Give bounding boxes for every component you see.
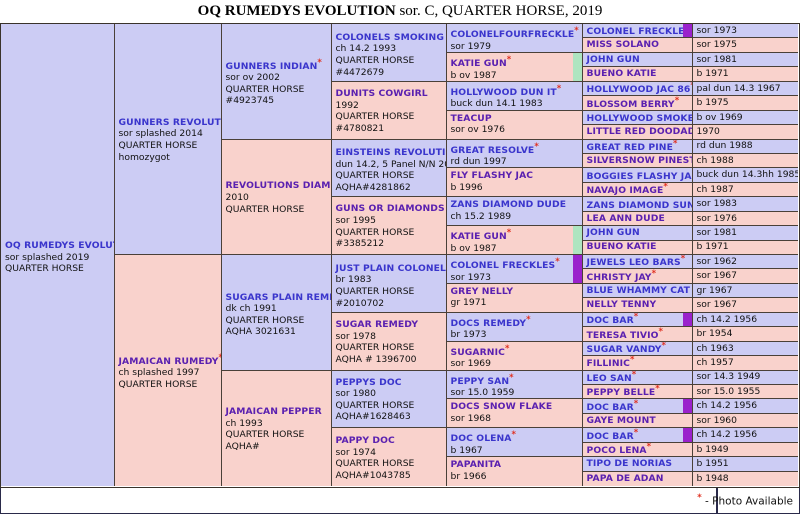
horse-detail: QUARTER HORSE xyxy=(336,170,443,182)
horse-name: BUENO KATIE xyxy=(587,241,657,253)
horse-detail: AQHA # 1396700 xyxy=(336,354,443,366)
horse-name: DOC BAR* xyxy=(587,313,639,327)
horse-detail: sor 1981 xyxy=(697,54,738,66)
horse-name: PEPPY SAN* xyxy=(451,373,579,388)
horse-detail: ch splashed 1997 xyxy=(119,367,218,379)
horse-detail: sor 1973 xyxy=(451,272,579,284)
horse-detail: b 1967 xyxy=(451,445,579,457)
gen5-cell[interactable]: DOCS SNOW FLAKEsor 1968 xyxy=(447,399,583,428)
horse-name: OQ RUMEDYS EVOLUTION* xyxy=(5,237,111,252)
photo-star-icon: * xyxy=(697,493,701,503)
gen4-cell[interactable]: JUST PLAIN COLONEL*br 1983QUARTER HORSE#… xyxy=(332,255,447,313)
gen5-cell[interactable]: KATIE GUN*b ov 1987 xyxy=(447,226,583,255)
horse-detail: QUARTER HORSE xyxy=(336,111,443,123)
gen6-date-cell[interactable]: sor 1976 xyxy=(693,212,799,226)
gen6-name-cell[interactable]: LEO SAN* xyxy=(583,371,693,385)
gen5-cell[interactable]: ZANS DIAMOND DUDEch 15.2 1989 xyxy=(447,197,583,226)
gen4-cell[interactable]: COLONELS SMOKING GUN*ch 14.2 1993QUARTER… xyxy=(332,24,447,82)
photo-star-icon: * xyxy=(663,183,668,192)
horse-name: COLONELS SMOKING GUN* xyxy=(336,29,443,44)
horse-detail: AQHA#1043785 xyxy=(336,470,443,482)
horse-detail: QUARTER HORSE xyxy=(226,204,328,216)
horse-name: DOCS REMEDY* xyxy=(451,315,579,330)
horse-detail: #4780821 xyxy=(336,123,443,135)
gen6-date-cell[interactable]: ch 1987 xyxy=(693,183,799,197)
gen6-date-cell[interactable]: sor 1960 xyxy=(693,414,799,428)
horse-detail: QUARTER HORSE xyxy=(226,84,328,96)
accent-bar-purple xyxy=(573,255,582,283)
horse-detail: homozygot xyxy=(119,152,218,164)
gen5-cell[interactable]: TEACUPsor ov 1976 xyxy=(447,111,583,140)
gen6-date-cell[interactable]: b 1971 xyxy=(693,67,799,81)
horse-detail: sor ov 2002 xyxy=(226,72,328,84)
horse-name: DOC BAR* xyxy=(587,428,639,442)
gen4-cell[interactable]: EINSTEINS REVOLUTION*dun 14.2, 5 Panel N… xyxy=(332,140,447,198)
gen6-name-cell[interactable]: DOC BAR* xyxy=(583,313,693,327)
horse-detail: dk ch 1991 xyxy=(226,303,328,315)
horse-detail: sor ov 1976 xyxy=(451,124,579,136)
horse-name: SUGARS PLAIN REMEDY* xyxy=(226,289,328,304)
gen6-date-cell[interactable]: sor 1975 xyxy=(693,38,799,52)
gen6-name-cell[interactable]: BUENO KATIE xyxy=(583,241,693,255)
photo-star-icon: * xyxy=(681,255,686,264)
horse-detail: sor 15.0 1959 xyxy=(451,387,579,399)
horse-name: TERESA TIVIO* xyxy=(587,327,664,341)
gen4-cell[interactable]: PEPPYS DOCsor 1980QUARTER HORSEAQHA#1628… xyxy=(332,371,447,429)
horse-name: JOHN GUN xyxy=(587,227,640,239)
horse-detail: ch 15.2 1989 xyxy=(451,211,579,223)
title-subject: OQ RUMEDYS EVOLUTION xyxy=(198,3,396,19)
horse-detail: QUARTER HORSE xyxy=(336,400,443,412)
accent-bar-purple xyxy=(683,428,692,441)
horse-name: PEPPY BELLE* xyxy=(587,385,660,399)
photo-star-icon: * xyxy=(647,443,652,452)
gen6-name-cell[interactable]: LEA ANN DUDE xyxy=(583,212,693,226)
horse-name: FILLINIC* xyxy=(587,356,635,370)
horse-detail: sor 1980 xyxy=(336,388,443,400)
horse-name: HOLLYWOOD SMOKE* xyxy=(587,111,693,125)
photo-star-icon: * xyxy=(655,385,660,394)
horse-name: ZANS DIAMOND SUN* xyxy=(587,197,693,211)
horse-detail: br 1983 xyxy=(336,274,443,286)
horse-detail: b ov 1987 xyxy=(451,70,579,82)
horse-detail: 1992 xyxy=(336,100,443,112)
horse-name: BLOSSOM BERRY* xyxy=(587,96,680,110)
photo-star-icon: * xyxy=(555,257,560,267)
photo-star-icon: * xyxy=(630,356,635,365)
photo-star-icon: * xyxy=(652,269,657,278)
horse-detail: sor 1975 xyxy=(697,39,738,51)
gen6-name-cell[interactable]: BLOSSOM BERRY* xyxy=(583,96,693,110)
horse-detail: gr 1967 xyxy=(697,285,733,297)
horse-name: COLONEL FRECKLES* xyxy=(451,257,579,272)
gen6-date-cell[interactable]: ch 1963 xyxy=(693,342,799,356)
gen6-name-cell[interactable]: MISS SOLANO xyxy=(583,38,693,52)
horse-name: BUENO KATIE xyxy=(587,68,657,80)
accent-bar-green xyxy=(573,53,582,81)
gen6-name-cell[interactable]: CHRISTY JAY* xyxy=(583,269,693,283)
gen6-name-cell[interactable]: HOLLYWOOD SMOKE* xyxy=(583,111,693,125)
gen3-cell[interactable]: REVOLUTIONS DIAMOND2010QUARTER HORSE xyxy=(222,140,332,256)
horse-name: POCO LENA* xyxy=(587,443,652,457)
horse-detail: b 1951 xyxy=(697,458,729,470)
gen6-date-cell[interactable]: ch 14.2 1956 xyxy=(693,313,799,327)
horse-detail: QUARTER HORSE xyxy=(336,227,443,239)
gen6-date-cell[interactable]: 1970 xyxy=(693,125,799,139)
gen6-name-cell[interactable]: BUENO KATIE xyxy=(583,67,693,81)
horse-detail: sor 1968 xyxy=(451,413,579,425)
horse-name: BOGGIES FLASHY JAC* xyxy=(587,168,693,182)
gen6-date-cell[interactable]: sor 14.3 1949 xyxy=(693,371,799,385)
horse-name: PAPANITA xyxy=(451,459,579,471)
title-details: sor. C, QUARTER HORSE, 2019 xyxy=(396,3,603,19)
horse-detail: b ov 1969 xyxy=(697,112,743,124)
horse-detail: pal dun 14.3 1967 xyxy=(697,83,781,95)
horse-detail: #2010702 xyxy=(336,298,443,310)
photo-star-icon: * xyxy=(526,315,531,325)
horse-detail: buck dun 14.1 1983 xyxy=(451,98,579,110)
horse-detail: b 1971 xyxy=(697,241,729,253)
gen6-date-cell[interactable]: sor 1967 xyxy=(693,298,799,312)
horse-detail: AQHA# xyxy=(226,441,328,453)
horse-name: JAMAICAN PEPPER xyxy=(226,406,328,418)
gen3-cell[interactable]: GUNNERS INDIAN*sor ov 2002QUARTER HORSE#… xyxy=(222,24,332,140)
horse-detail: QUARTER HORSE xyxy=(119,140,218,152)
horse-detail: ch 14.2 1956 xyxy=(697,400,758,412)
horse-detail: sor splashed 2019 xyxy=(5,252,111,264)
horse-name: DOC OLENA* xyxy=(451,430,579,445)
photo-star-icon: * xyxy=(507,55,512,65)
gen6-date-cell[interactable]: b 1951 xyxy=(693,457,799,471)
horse-name: ZANS DIAMOND DUDE xyxy=(451,199,579,211)
gen6-name-cell[interactable]: GAYE MOUNT xyxy=(583,414,693,428)
gen6-name-cell[interactable]: HOLLYWOOD JAC 86* xyxy=(583,82,693,96)
horse-name: JOHN GUN xyxy=(587,54,640,66)
horse-name: CHRISTY JAY* xyxy=(587,269,657,283)
gen5-cell[interactable]: COLONEL FRECKLES*sor 1973 xyxy=(447,255,583,284)
horse-detail: QUARTER HORSE xyxy=(336,55,443,67)
horse-name: TIPO DE NORIAS xyxy=(587,458,673,470)
gen4-cell[interactable]: SUGAR REMEDYsor 1978QUARTER HORSEAQHA # … xyxy=(332,313,447,371)
gen6-name-cell[interactable]: TIPO DE NORIAS xyxy=(583,457,693,471)
horse-detail: AQHA#4281862 xyxy=(336,182,443,194)
horse-name: LEO SAN* xyxy=(587,371,637,385)
photo-star-icon: * xyxy=(574,26,579,36)
horse-detail: sor 1983 xyxy=(697,198,738,210)
gen6-date-cell[interactable]: gr 1967 xyxy=(693,284,799,298)
horse-name: GREAT RESOLVE* xyxy=(451,142,579,157)
gen4-cell[interactable]: DUNITS COWGIRL1992QUARTER HORSE#4780821 xyxy=(332,82,447,140)
horse-detail: ch 1987 xyxy=(697,184,734,196)
gen2-cell[interactable]: JAMAICAN RUMEDY*ch splashed 1997QUARTER … xyxy=(115,255,222,486)
horse-name: GAYE MOUNT xyxy=(587,415,656,427)
gen6-date-cell[interactable]: sor 15.0 1955 xyxy=(693,385,799,399)
gen5-cell[interactable]: FLY FLASHY JACb 1996 xyxy=(447,168,583,197)
horse-detail: sor 15.0 1955 xyxy=(697,386,761,398)
gen5-cell[interactable]: KATIE GUN*b ov 1987 xyxy=(447,53,583,82)
gen6-date-cell[interactable]: b ov 1969 xyxy=(693,111,799,125)
horse-name: COLONEL FRECKLES* xyxy=(587,24,693,38)
horse-name: SUGAR VANDY* xyxy=(587,342,667,356)
horse-detail: b 1975 xyxy=(697,97,729,109)
horse-name: HOLLYWOOD JAC 86* xyxy=(587,82,693,96)
gen6-date-cell[interactable]: b 1948 xyxy=(693,472,799,486)
horse-detail: b 1971 xyxy=(697,68,729,80)
horse-name: SILVERSNOW PINESTEP xyxy=(587,155,693,167)
photo-star-icon: * xyxy=(675,96,680,105)
gen6-date-cell[interactable]: rd dun 1988 xyxy=(693,140,799,154)
accent-bar-purple xyxy=(683,399,692,412)
horse-detail: #4472679 xyxy=(336,67,443,79)
horse-name: GUNNERS REVOLUTION xyxy=(119,117,218,129)
horse-detail: QUARTER HORSE xyxy=(226,315,328,327)
gen6-date-cell[interactable]: sor 1981 xyxy=(693,226,799,240)
accent-bar-green xyxy=(573,226,582,254)
gen5-cell[interactable]: DOCS REMEDY*br 1973 xyxy=(447,313,583,342)
gen6-name-cell[interactable]: POCO LENA* xyxy=(583,443,693,457)
gen6-date-cell[interactable]: b 1949 xyxy=(693,443,799,457)
photo-star-icon: * xyxy=(634,428,639,437)
horse-name: SUGAR REMEDY xyxy=(336,319,443,331)
pedigree-grid: OQ RUMEDYS EVOLUTION*sor splashed 2019QU… xyxy=(0,23,800,488)
photo-star-icon: * xyxy=(634,399,639,408)
horse-detail: QUARTER HORSE xyxy=(336,458,443,470)
gen6-date-cell[interactable]: pal dun 14.3 1967 xyxy=(693,82,799,96)
gen6-name-cell[interactable]: NELLY TENNY xyxy=(583,298,693,312)
legend-label: - Photo Available xyxy=(705,496,793,508)
horse-detail: sor 1995 xyxy=(336,215,443,227)
horse-detail: ch 1993 xyxy=(226,418,328,430)
gen1-cell[interactable]: OQ RUMEDYS EVOLUTION*sor splashed 2019QU… xyxy=(1,24,115,486)
gen3-cell[interactable]: JAMAICAN PEPPERch 1993QUARTER HORSEAQHA# xyxy=(222,371,332,487)
gen6-date-cell[interactable]: sor 1983 xyxy=(693,197,799,211)
photo-star-icon: * xyxy=(512,430,517,440)
horse-detail: AQHA#1628463 xyxy=(336,411,443,423)
horse-name: LEA ANN DUDE xyxy=(587,213,665,225)
horse-detail: br 1954 xyxy=(697,328,733,340)
horse-detail: sor 1981 xyxy=(697,227,738,239)
horse-detail: ch 14.2 1956 xyxy=(697,314,758,326)
gen6-date-cell[interactable]: sor 1962 xyxy=(693,255,799,269)
horse-detail: sor 1962 xyxy=(697,256,738,268)
horse-detail: QUARTER HORSE xyxy=(5,263,111,275)
horse-name: GREY NELLY xyxy=(451,286,579,298)
gen5-cell[interactable]: DOC OLENA*b 1967 xyxy=(447,428,583,457)
horse-name: JEWELS LEO BARS* xyxy=(587,255,686,269)
gen3-cell[interactable]: SUGARS PLAIN REMEDY*dk ch 1991QUARTER HO… xyxy=(222,255,332,371)
horse-name: KATIE GUN* xyxy=(451,55,579,70)
horse-name: DUNITS COWGIRL xyxy=(336,88,443,100)
horse-detail: 2010 xyxy=(226,192,328,204)
gen6-date-cell[interactable]: sor 1981 xyxy=(693,53,799,67)
photo-star-icon: * xyxy=(507,228,512,238)
photo-star-icon: * xyxy=(673,140,678,149)
accent-bar-purple xyxy=(683,24,692,37)
horse-detail: ch 1988 xyxy=(697,155,734,167)
horse-name: TEACUP xyxy=(451,113,579,125)
gen6-date-cell[interactable]: b 1975 xyxy=(693,96,799,110)
horse-detail: sor 1967 xyxy=(697,299,738,311)
gen2-cell[interactable]: GUNNERS REVOLUTIONsor splashed 2014QUART… xyxy=(115,24,222,255)
horse-detail: QUARTER HORSE xyxy=(336,286,443,298)
gen6-name-cell[interactable]: COLONEL FRECKLES* xyxy=(583,24,693,38)
gen4-cell[interactable]: GUNS OR DIAMONDSsor 1995QUARTER HORSE#33… xyxy=(332,197,447,255)
horse-detail: sor splashed 2014 xyxy=(119,128,218,140)
horse-detail: QUARTER HORSE xyxy=(119,379,218,391)
gen6-name-cell[interactable]: NAVAJO IMAGE* xyxy=(583,183,693,197)
gen5-cell[interactable]: GREY NELLYgr 1971 xyxy=(447,284,583,313)
gen6-date-cell[interactable]: sor 1967 xyxy=(693,269,799,283)
gen6-name-cell[interactable]: FILLINIC* xyxy=(583,356,693,370)
photo-star-icon: * xyxy=(634,313,639,322)
horse-detail: b 1948 xyxy=(697,473,729,485)
gen6-name-cell[interactable]: ZANS DIAMOND SUN* xyxy=(583,197,693,211)
legend-footer: * - Photo Available xyxy=(0,488,800,514)
horse-name: JUST PLAIN COLONEL* xyxy=(336,260,443,275)
gen6-name-cell[interactable]: BOGGIES FLASHY JAC* xyxy=(583,168,693,182)
horse-detail: br 1966 xyxy=(451,471,579,483)
gen6-name-cell[interactable]: DOC BAR* xyxy=(583,399,693,413)
gen6-name-cell[interactable]: TERESA TIVIO* xyxy=(583,327,693,341)
photo-star-icon: * xyxy=(509,373,514,383)
gen6-date-cell[interactable]: sor 1973 xyxy=(693,24,799,38)
horse-detail: gr 1971 xyxy=(451,297,579,309)
gen6-date-cell[interactable]: buck dun 14.3hh 1985 xyxy=(693,168,799,182)
gen5-cell[interactable]: SUGARNIC*sor 1969 xyxy=(447,342,583,371)
horse-detail: sor 1967 xyxy=(697,270,738,282)
gen6-date-cell[interactable]: ch 1957 xyxy=(693,356,799,370)
page-title: OQ RUMEDYS EVOLUTION sor. C, QUARTER HOR… xyxy=(0,0,800,22)
horse-detail: b ov 1987 xyxy=(451,243,579,255)
horse-detail: sor 1960 xyxy=(697,415,738,427)
horse-name: NELLY TENNY xyxy=(587,299,657,311)
horse-name: SUGARNIC* xyxy=(451,344,579,359)
horse-detail: ch 1963 xyxy=(697,343,734,355)
horse-detail: AQHA 3021631 xyxy=(226,326,328,338)
horse-name: HOLLYWOOD DUN IT* xyxy=(451,84,579,99)
gen6-name-cell[interactable]: SILVERSNOW PINESTEP xyxy=(583,154,693,168)
gen6-date-cell[interactable]: br 1954 xyxy=(693,327,799,341)
horse-name: KATIE GUN* xyxy=(451,228,579,243)
gen5-cell[interactable]: PEPPY SAN*sor 15.0 1959 xyxy=(447,371,583,400)
gen6-name-cell[interactable]: GREAT RED PINE* xyxy=(583,140,693,154)
photo-star-icon: * xyxy=(505,344,510,354)
horse-detail: #3385212 xyxy=(336,238,443,250)
horse-name: MISS SOLANO xyxy=(587,39,660,51)
legend-text: * - Photo Available xyxy=(697,493,793,508)
horse-name: REVOLUTIONS DIAMOND xyxy=(226,180,328,192)
gen6-name-cell[interactable]: PEPPY BELLE* xyxy=(583,385,693,399)
photo-star-icon: * xyxy=(632,371,637,380)
horse-name: DOC BAR* xyxy=(587,399,639,413)
horse-detail: b 1996 xyxy=(451,182,579,194)
gen6-date-cell[interactable]: b 1971 xyxy=(693,241,799,255)
horse-detail: sor 1974 xyxy=(336,447,443,459)
gen6-name-cell[interactable]: JEWELS LEO BARS* xyxy=(583,255,693,269)
gen4-cell[interactable]: PAPPY DOCsor 1974QUARTER HORSEAQHA#10437… xyxy=(332,428,447,486)
horse-detail: ch 14.2 1993 xyxy=(336,43,443,55)
horse-name: PAPPY DOC xyxy=(336,435,443,447)
horse-name: DOCS SNOW FLAKE xyxy=(451,401,579,413)
gen5-cell[interactable]: PAPANITAbr 1966 xyxy=(447,457,583,486)
photo-star-icon: * xyxy=(659,327,664,336)
horse-detail: b 1949 xyxy=(697,444,729,456)
horse-name: PAPA DE ADAN xyxy=(587,473,664,485)
horse-detail: br 1973 xyxy=(451,329,579,341)
horse-name: FLY FLASHY JAC xyxy=(451,170,579,182)
gen6-date-cell[interactable]: ch 14.2 1956 xyxy=(693,399,799,413)
pedigree-chart: OQ RUMEDYS EVOLUTION sor. C, QUARTER HOR… xyxy=(0,0,800,514)
horse-detail: 1970 xyxy=(697,126,720,138)
horse-detail: rd dun 1988 xyxy=(697,140,753,152)
horse-name: PEPPYS DOC xyxy=(336,377,443,389)
horse-detail: sor 14.3 1949 xyxy=(697,371,761,383)
horse-name: GUNNERS INDIAN* xyxy=(226,58,328,73)
gen6-date-cell[interactable]: ch 14.2 1956 xyxy=(693,428,799,442)
gen6-date-cell[interactable]: ch 1988 xyxy=(693,154,799,168)
photo-star-icon: * xyxy=(557,84,562,94)
horse-detail: ch 14.2 1956 xyxy=(697,429,758,441)
gen5-cell[interactable]: GREAT RESOLVE*rd dun 1997 xyxy=(447,140,583,169)
horse-name: EINSTEINS REVOLUTION* xyxy=(336,144,443,159)
horse-name: NAVAJO IMAGE* xyxy=(587,183,668,197)
horse-detail: ch 1957 xyxy=(697,357,734,369)
horse-detail: QUARTER HORSE xyxy=(336,342,443,354)
horse-name: LITTLE RED DOODAD xyxy=(587,126,693,138)
photo-star-icon: * xyxy=(662,342,667,351)
horse-detail: buck dun 14.3hh 1985 xyxy=(697,169,799,181)
horse-name: BLUE WHAMMY CAT xyxy=(587,285,690,297)
photo-star-icon: * xyxy=(534,142,539,152)
horse-name: COLONELFOURFRECKLE* xyxy=(451,26,579,41)
horse-detail: sor 1979 xyxy=(451,41,579,53)
gen6-name-cell[interactable]: PAPA DE ADAN xyxy=(583,472,693,486)
gen6-name-cell[interactable]: SUGAR VANDY* xyxy=(583,342,693,356)
gen6-name-cell[interactable]: JOHN GUN xyxy=(583,53,693,67)
horse-detail: #4923745 xyxy=(226,95,328,107)
horse-name: GREAT RED PINE* xyxy=(587,140,678,154)
gen6-name-cell[interactable]: JOHN GUN xyxy=(583,226,693,240)
horse-detail: sor 1976 xyxy=(697,213,738,225)
horse-detail: rd dun 1997 xyxy=(451,156,579,168)
horse-detail: QUARTER HORSE xyxy=(226,429,328,441)
horse-detail: sor 1978 xyxy=(336,331,443,343)
gen6-name-cell[interactable]: LITTLE RED DOODAD xyxy=(583,125,693,139)
horse-detail: dun 14.2, 5 Panel N/N 2002 xyxy=(336,159,443,171)
gen5-cell[interactable]: COLONELFOURFRECKLE*sor 1979 xyxy=(447,24,583,53)
photo-star-icon: * xyxy=(317,58,322,68)
horse-detail: sor 1969 xyxy=(451,358,579,370)
gen6-name-cell[interactable]: BLUE WHAMMY CAT xyxy=(583,284,693,298)
horse-detail: sor 1973 xyxy=(697,25,738,37)
horse-name: JAMAICAN RUMEDY* xyxy=(119,353,218,368)
accent-bar-purple xyxy=(683,313,692,326)
gen5-cell[interactable]: HOLLYWOOD DUN IT*buck dun 14.1 1983 xyxy=(447,82,583,111)
horse-name: GUNS OR DIAMONDS xyxy=(336,203,443,215)
gen6-name-cell[interactable]: DOC BAR* xyxy=(583,428,693,442)
